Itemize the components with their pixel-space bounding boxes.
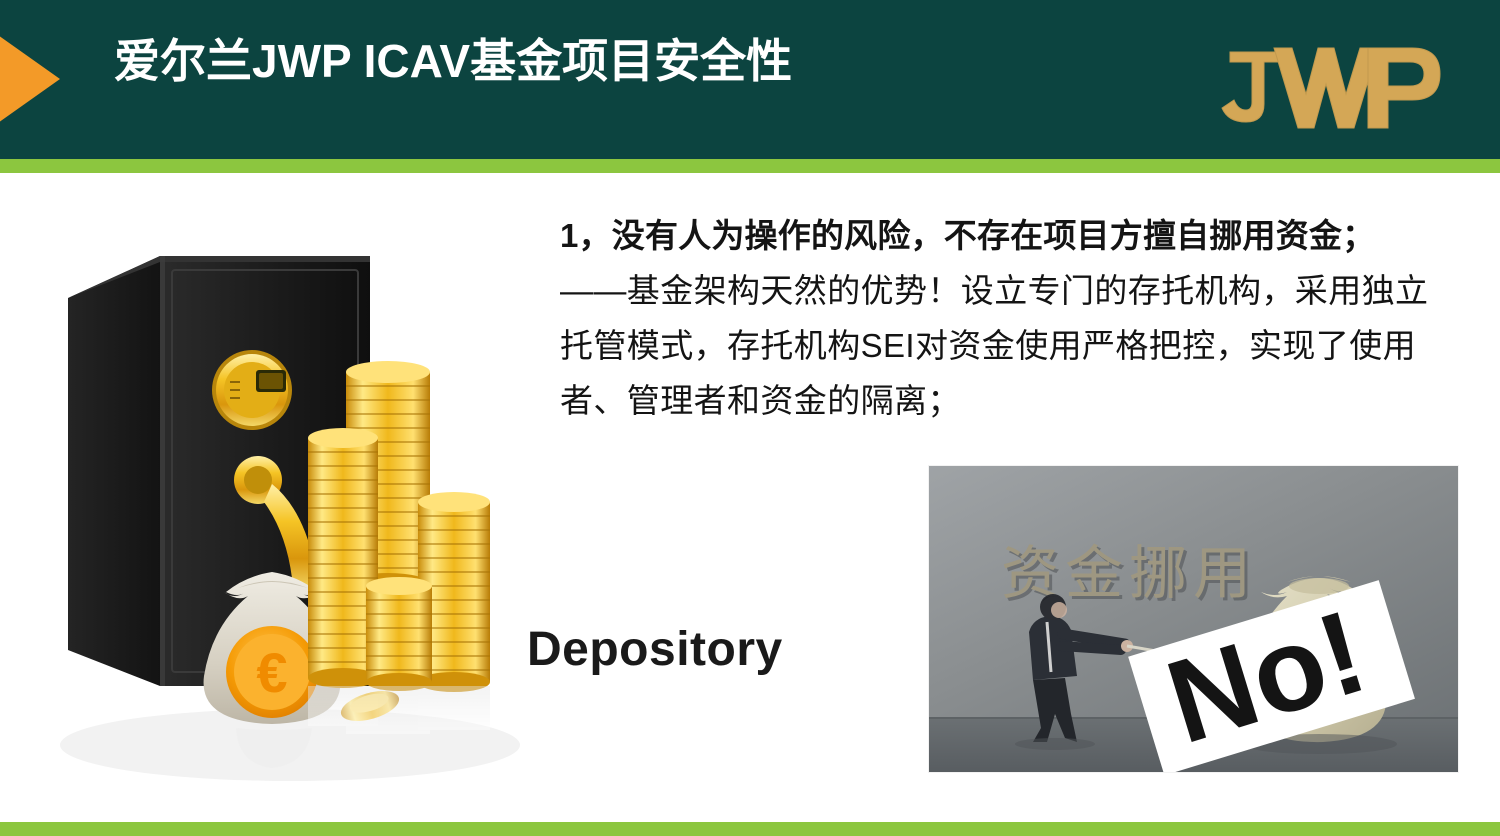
body-line-2: ——基金架构天然的优势！设立专门的存托机构，采用独立: [560, 263, 1480, 318]
svg-text:€: €: [256, 641, 287, 704]
footer-accent-strip: [0, 822, 1500, 836]
body-copy: 1，没有人为操作的风险，不存在项目方擅自挪用资金； ——基金架构天然的优势！设立…: [560, 208, 1480, 428]
body-line-1: 1，没有人为操作的风险，不存在项目方擅自挪用资金；: [560, 208, 1480, 263]
slide-header-band: 爱尔兰JWP ICAV基金项目安全性: [0, 0, 1500, 159]
orange-chevron-icon: [0, 28, 60, 130]
body-line-4: 者、管理者和资金的隔离；: [560, 373, 1480, 428]
depository-caption: Depository: [527, 622, 783, 677]
jwp-logo: [1216, 18, 1452, 136]
page-title: 爱尔兰JWP ICAV基金项目安全性: [114, 38, 792, 84]
body-line-3: 托管模式，存托机构SEI对资金使用严格把控，实现了使用: [560, 318, 1480, 373]
fund-misuse-photo: 资金挪用 资金挪用 $: [929, 466, 1458, 772]
header-accent-strip: [0, 159, 1500, 173]
depository-safe-illustration: €: [40, 240, 540, 800]
svg-text:资金挪用: 资金挪用: [1001, 539, 1257, 607]
